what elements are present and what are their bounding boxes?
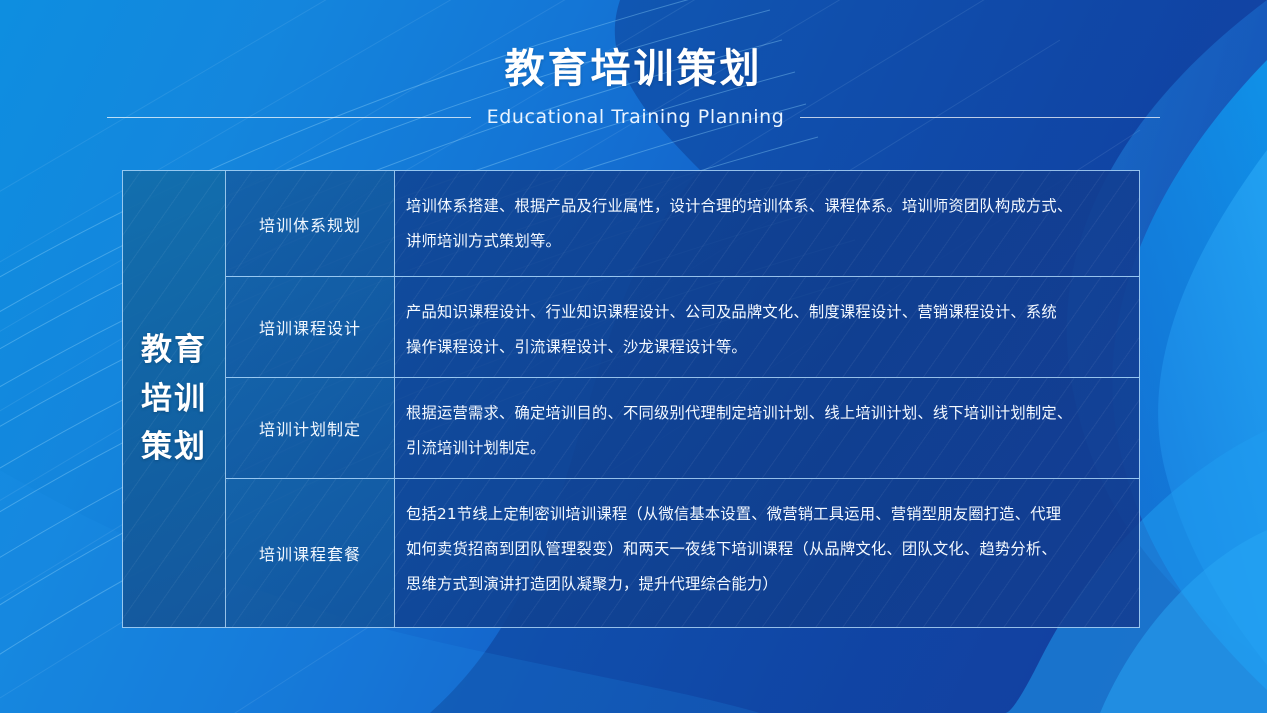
table-cell-line: 产品知识课程设计、行业知识课程设计、公司及品牌文化、制度课程设计、营销课程设计、… [406, 295, 1129, 330]
table-cell-body: 产品知识课程设计、行业知识课程设计、公司及品牌文化、制度课程设计、营销课程设计、… [395, 277, 1139, 377]
row-header-line: 策划 [141, 423, 207, 472]
table-cell-label: 培训课程设计 [226, 277, 395, 377]
page-subtitle: Educational Training Planning [487, 106, 785, 128]
table-cell-label: 培训课程套餐 [226, 479, 395, 627]
table-cell-line: 操作课程设计、引流课程设计、沙龙课程设计等。 [406, 330, 1129, 365]
row-header-line: 教育 [141, 326, 207, 375]
table-cell-line: 培训体系搭建、根据产品及行业属性，设计合理的培训体系、课程体系。培训师资团队构成… [406, 189, 1129, 224]
table-cell-line: 根据运营需求、确定培训目的、不同级别代理制定培训计划、线上培训计划、线下培训计划… [406, 396, 1129, 431]
table-cell-label-text: 培训计划制定 [259, 416, 361, 440]
table-rows: 培训体系规划 培训体系搭建、根据产品及行业属性，设计合理的培训体系、课程体系。培… [226, 171, 1139, 627]
table-cell-label-text: 培训课程套餐 [259, 541, 361, 565]
table-cell-line: 思维方式到演讲打造团队凝聚力，提升代理综合能力） [406, 567, 1129, 602]
table-row-header-cell: 教育 培训 策划 [123, 171, 226, 627]
table-cell-label-text: 培训体系规划 [259, 212, 361, 236]
table-cell-label: 培训体系规划 [226, 171, 395, 276]
table-cell-label-text: 培训课程设计 [259, 315, 361, 339]
table-cell-line: 讲师培训方式策划等。 [406, 224, 1129, 259]
row-header-line: 培训 [141, 375, 207, 424]
table-cell-body: 根据运营需求、确定培训目的、不同级别代理制定培训计划、线上培训计划、线下培训计划… [395, 378, 1139, 478]
divider-left [107, 117, 471, 118]
divider-right [800, 117, 1160, 118]
table-row: 培训课程套餐 包括21节线上定制密训培训课程（从微信基本设置、微营销工具运用、营… [226, 479, 1139, 627]
slide-canvas: 教育培训策划 Educational Training Planning 教育 … [0, 0, 1267, 713]
slide-header: 教育培训策划 Educational Training Planning [0, 46, 1267, 131]
table-cell-line: 如何卖货招商到团队管理裂变）和两天一夜线下培训课程（从品牌文化、团队文化、趋势分… [406, 532, 1129, 567]
subtitle-row: Educational Training Planning [0, 103, 1267, 131]
page-title: 教育培训策划 [0, 46, 1267, 92]
content-table: 教育 培训 策划 培训体系规划 培训体系搭建、根据产品及行业属性，设计合理的培训… [122, 170, 1140, 628]
table-cell-body: 培训体系搭建、根据产品及行业属性，设计合理的培训体系、课程体系。培训师资团队构成… [395, 171, 1139, 276]
table-cell-line: 引流培训计划制定。 [406, 431, 1129, 466]
table-row: 培训计划制定 根据运营需求、确定培训目的、不同级别代理制定培训计划、线上培训计划… [226, 378, 1139, 479]
table-cell-body: 包括21节线上定制密训培训课程（从微信基本设置、微营销工具运用、营销型朋友圈打造… [395, 479, 1139, 627]
table-cell-line: 包括21节线上定制密训培训课程（从微信基本设置、微营销工具运用、营销型朋友圈打造… [406, 497, 1129, 532]
table-cell-label: 培训计划制定 [226, 378, 395, 478]
table-row-header-label: 教育 培训 策划 [141, 326, 207, 473]
table-row: 培训体系规划 培训体系搭建、根据产品及行业属性，设计合理的培训体系、课程体系。培… [226, 171, 1139, 277]
table-row: 培训课程设计 产品知识课程设计、行业知识课程设计、公司及品牌文化、制度课程设计、… [226, 277, 1139, 378]
background-wave-3 [1158, 150, 1267, 665]
